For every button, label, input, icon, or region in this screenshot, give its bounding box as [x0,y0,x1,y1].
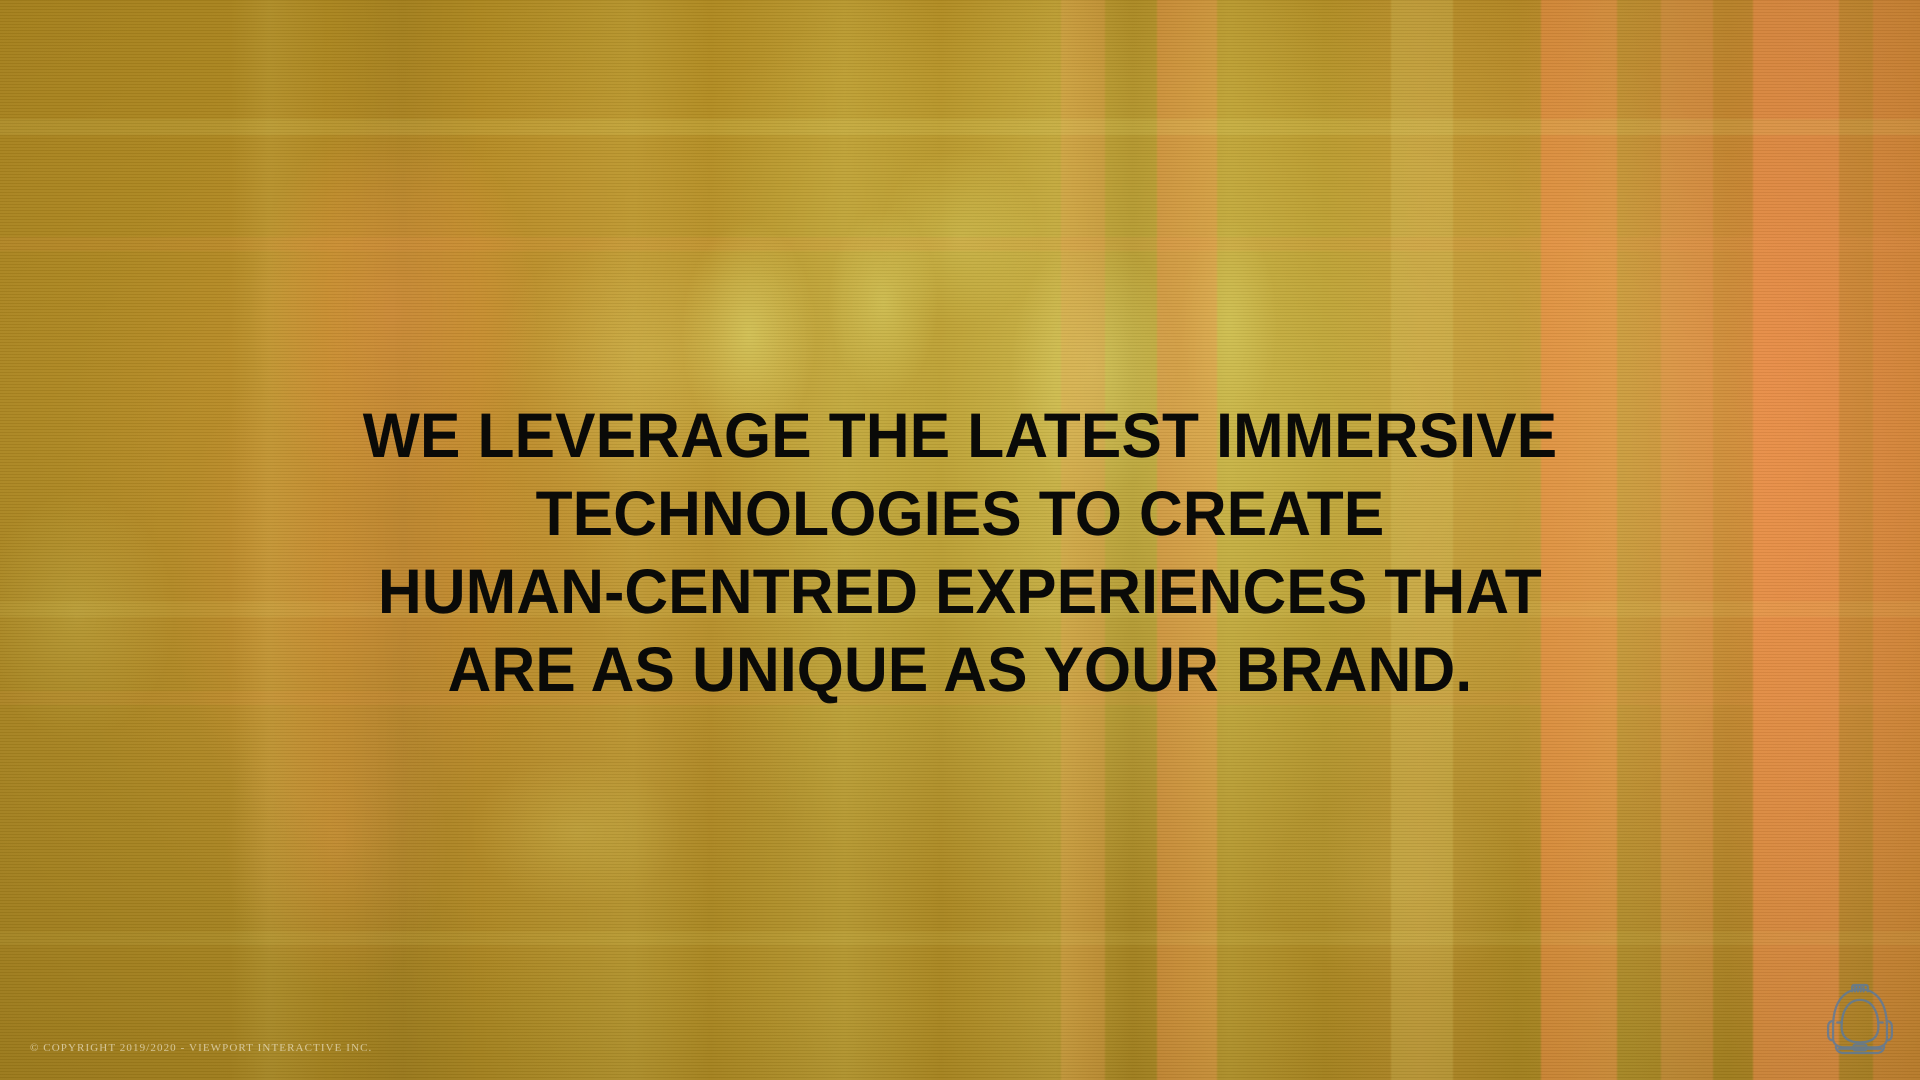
astronaut-helmet-icon [1824,980,1896,1058]
astronaut-helmet-logo[interactable] [1824,980,1896,1058]
presentation-slide: WE LEVERAGE THE LATEST IMMERSIVE TECHNOL… [0,0,1920,1080]
copyright-notice: © COPYRIGHT 2019/2020 - VIEWPORT INTERAC… [30,1042,372,1054]
headline-statement: WE LEVERAGE THE LATEST IMMERSIVE TECHNOL… [38,397,1881,709]
